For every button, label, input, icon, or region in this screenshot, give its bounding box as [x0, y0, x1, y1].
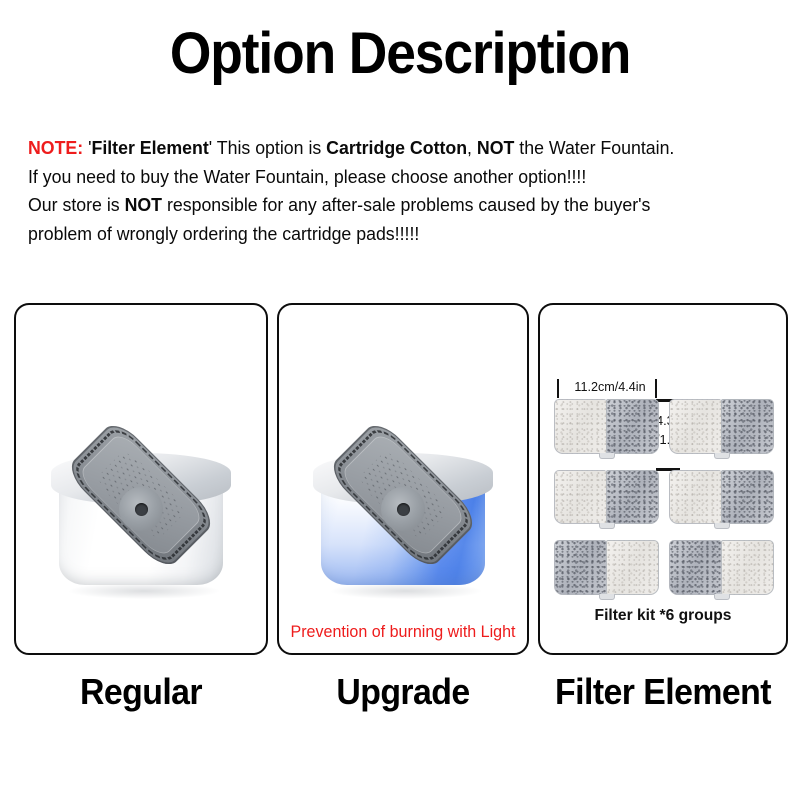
option-label-filter-element[interactable]: Filter Element [541, 670, 785, 714]
option-card-regular[interactable] [14, 303, 268, 655]
note-quote-close: ' [209, 138, 217, 158]
filter-pad-carbon [606, 470, 659, 525]
option-label-upgrade[interactable]: Upgrade [285, 670, 522, 714]
option-card-upgrade[interactable]: Prevention of burning with Light [277, 303, 529, 655]
water-fountain-illustration [43, 417, 239, 601]
fountain-nozzle-hole [397, 503, 410, 516]
water-fountain-light-illustration [305, 417, 501, 601]
filter-pad-carbon [721, 399, 774, 454]
option-card-filter-element[interactable]: 11.2cm/4.4in 4.3 cm /1.7in [538, 303, 788, 655]
note-text-head-3: Our store is [28, 195, 125, 215]
note-block: NOTE: 'Filter Element' This option is Ca… [28, 134, 761, 248]
fountain-nozzle-hole [135, 503, 148, 516]
option-labels-row: Regular Upgrade Filter Element [0, 670, 800, 720]
note-line-1: NOTE: 'Filter Element' This option is Ca… [28, 134, 761, 163]
note-term-not-2: NOT [125, 195, 162, 215]
filter-cartridge-illustration: 11.2cm/4.4in 4.3 cm /1.7in [540, 305, 786, 653]
fountain-nozzle [381, 487, 425, 531]
filter-group [669, 399, 774, 454]
note-term-not-1: NOT [477, 138, 514, 158]
fountain-shadow [331, 583, 481, 599]
note-term-filter-element: Filter Element [91, 138, 208, 158]
filter-width-dimension: 11.2cm/4.4in [557, 379, 667, 399]
fountain-shadow [69, 583, 219, 599]
note-text-tail-3: responsible for any after-sale problems … [162, 195, 650, 215]
option-cards-row: Prevention of burning with Light 11.2cm/… [0, 303, 800, 657]
note-text-tail-1: the Water Fountain. [514, 138, 674, 158]
filter-kit-caption: Filter kit *6 groups [540, 607, 786, 625]
note-line-2: If you need to buy the Water Fountain, p… [28, 163, 761, 192]
filter-group [554, 399, 659, 454]
filter-pad-carbon [669, 540, 721, 595]
filter-group [669, 540, 774, 595]
note-term-cartridge-cotton: Cartridge Cotton [326, 138, 467, 158]
filter-group [554, 540, 659, 595]
filter-width-label: 11.2cm/4.4in [566, 380, 654, 394]
option-label-regular[interactable]: Regular [22, 670, 261, 714]
filter-pad-carbon [721, 470, 774, 525]
filter-pad-cotton [721, 540, 774, 595]
filter-group [554, 470, 659, 525]
filter-cartridge-grid [554, 399, 774, 595]
filter-pad-cotton [669, 470, 721, 525]
filter-group [669, 470, 774, 525]
filter-pad-carbon [606, 399, 659, 454]
upgrade-card-caption: Prevention of burning with Light [281, 623, 524, 642]
note-line-4: problem of wrongly ordering the cartridg… [28, 220, 761, 249]
fountain-nozzle [119, 487, 163, 531]
dimension-tick-right [655, 379, 657, 398]
note-label: NOTE: [28, 138, 83, 158]
filter-pad-cotton [606, 540, 659, 595]
filter-pad-cotton [554, 470, 606, 525]
filter-pad-carbon [554, 540, 606, 595]
note-text-mid-1: This option is [217, 138, 326, 158]
note-line-3: Our store is NOT responsible for any aft… [28, 191, 761, 220]
filter-pad-cotton [669, 399, 721, 454]
note-quote-open: ' [83, 138, 91, 158]
dimension-tick-left [557, 379, 559, 398]
filter-pad-cotton [554, 399, 606, 454]
page-title: Option Description [32, 24, 768, 85]
note-text-mid-2: , [467, 138, 477, 158]
